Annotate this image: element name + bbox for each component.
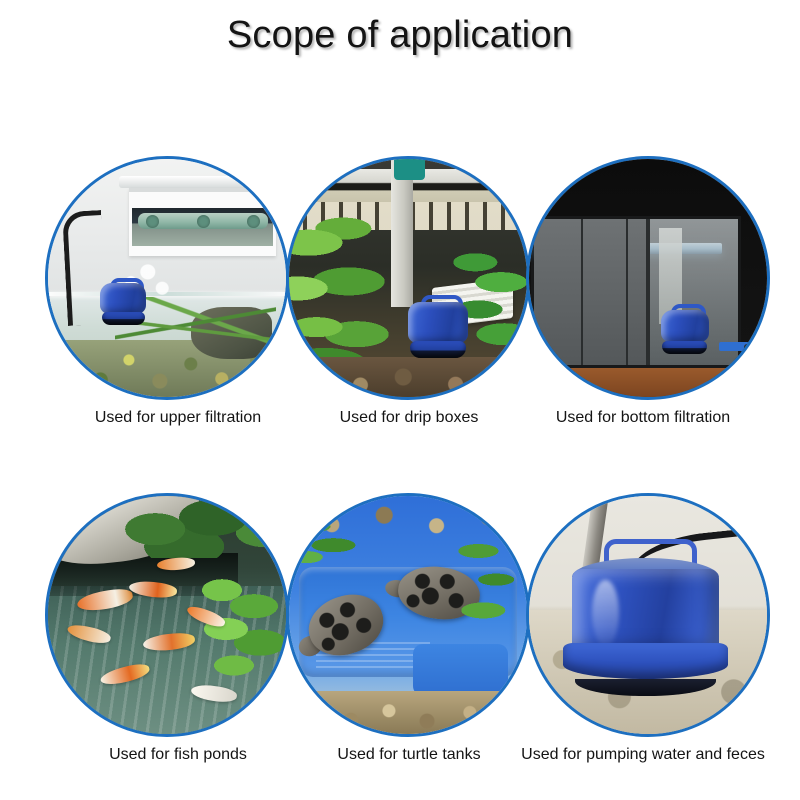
application-scenarios-grid: Used for upper filtration Used: [0, 0, 800, 800]
pump-base: [662, 341, 706, 354]
pump-body: [661, 310, 709, 343]
top-filter-box: [129, 188, 277, 256]
scenario-caption: Used for turtle tanks: [286, 746, 532, 764]
pump-skirt: [563, 643, 728, 679]
scenario-image-bottom-filtration: [526, 156, 770, 400]
platform-step: [413, 644, 508, 696]
teal-fitting: [394, 159, 425, 180]
tank-lid: [119, 176, 281, 188]
submersible-pump: [100, 283, 146, 325]
pump-closeup-scene: [529, 496, 767, 734]
pump-base: [410, 341, 465, 358]
aquarium-upper-filter-scene: [48, 159, 286, 397]
pond-shrub: [196, 572, 286, 686]
scenario-caption: Used for fish ponds: [55, 746, 301, 764]
pump-body: [100, 283, 146, 314]
scenario-item-pumping-water-and-feces[interactable]: Used for pumping water and feces: [526, 493, 772, 764]
bottom-filter-tank-scene: [529, 159, 767, 397]
scenario-caption: Used for upper filtration: [55, 409, 301, 427]
scenario-caption: Used for pumping water and feces: [520, 746, 766, 764]
submersible-pump: [572, 558, 720, 696]
submersible-pump: [661, 310, 709, 354]
drip-box-rack-scene: [289, 159, 527, 397]
scenario-image-fish-ponds: [45, 493, 289, 737]
gravel-bank-bottom: [289, 691, 527, 734]
outlet-valve: [719, 338, 762, 359]
pump-highlight: [592, 580, 619, 646]
pebble-floor: [289, 357, 527, 397]
pump-base: [575, 679, 717, 696]
turtle-tank-scene: [289, 496, 527, 734]
scenario-item-turtle-tanks[interactable]: Used for turtle tanks: [286, 493, 532, 764]
scenario-image-pumping-water-and-feces: [526, 493, 770, 737]
pump-base: [102, 312, 144, 325]
cabinet-panel: [583, 219, 628, 365]
aquarium-cabinet: [531, 216, 740, 368]
koi-pond-scene: [48, 496, 286, 734]
scenario-caption: Used for drip boxes: [286, 409, 532, 427]
scenario-item-upper-filtration[interactable]: Used for upper filtration: [45, 156, 291, 427]
scenario-item-bottom-filtration[interactable]: Used for bottom filtration: [526, 156, 772, 427]
wooden-floor: [529, 368, 767, 397]
scenario-item-fish-ponds[interactable]: Used for fish ponds: [45, 493, 291, 764]
scenario-image-drip-boxes: [286, 156, 530, 400]
fern-left: [289, 501, 379, 587]
scenario-image-upper-filtration: [45, 156, 289, 400]
cabinet-panel: [534, 219, 583, 365]
scenario-item-drip-boxes[interactable]: Used for drip boxes: [286, 156, 532, 427]
submersible-pump: [408, 302, 468, 358]
pump-body: [408, 302, 468, 343]
cabinet-panel: [628, 219, 648, 365]
moss-bank: [119, 496, 286, 558]
scenario-image-turtle-tanks: [286, 493, 530, 737]
spray-bar: [138, 213, 268, 230]
scenario-caption: Used for bottom filtration: [520, 409, 766, 427]
fern-right: [446, 529, 527, 638]
